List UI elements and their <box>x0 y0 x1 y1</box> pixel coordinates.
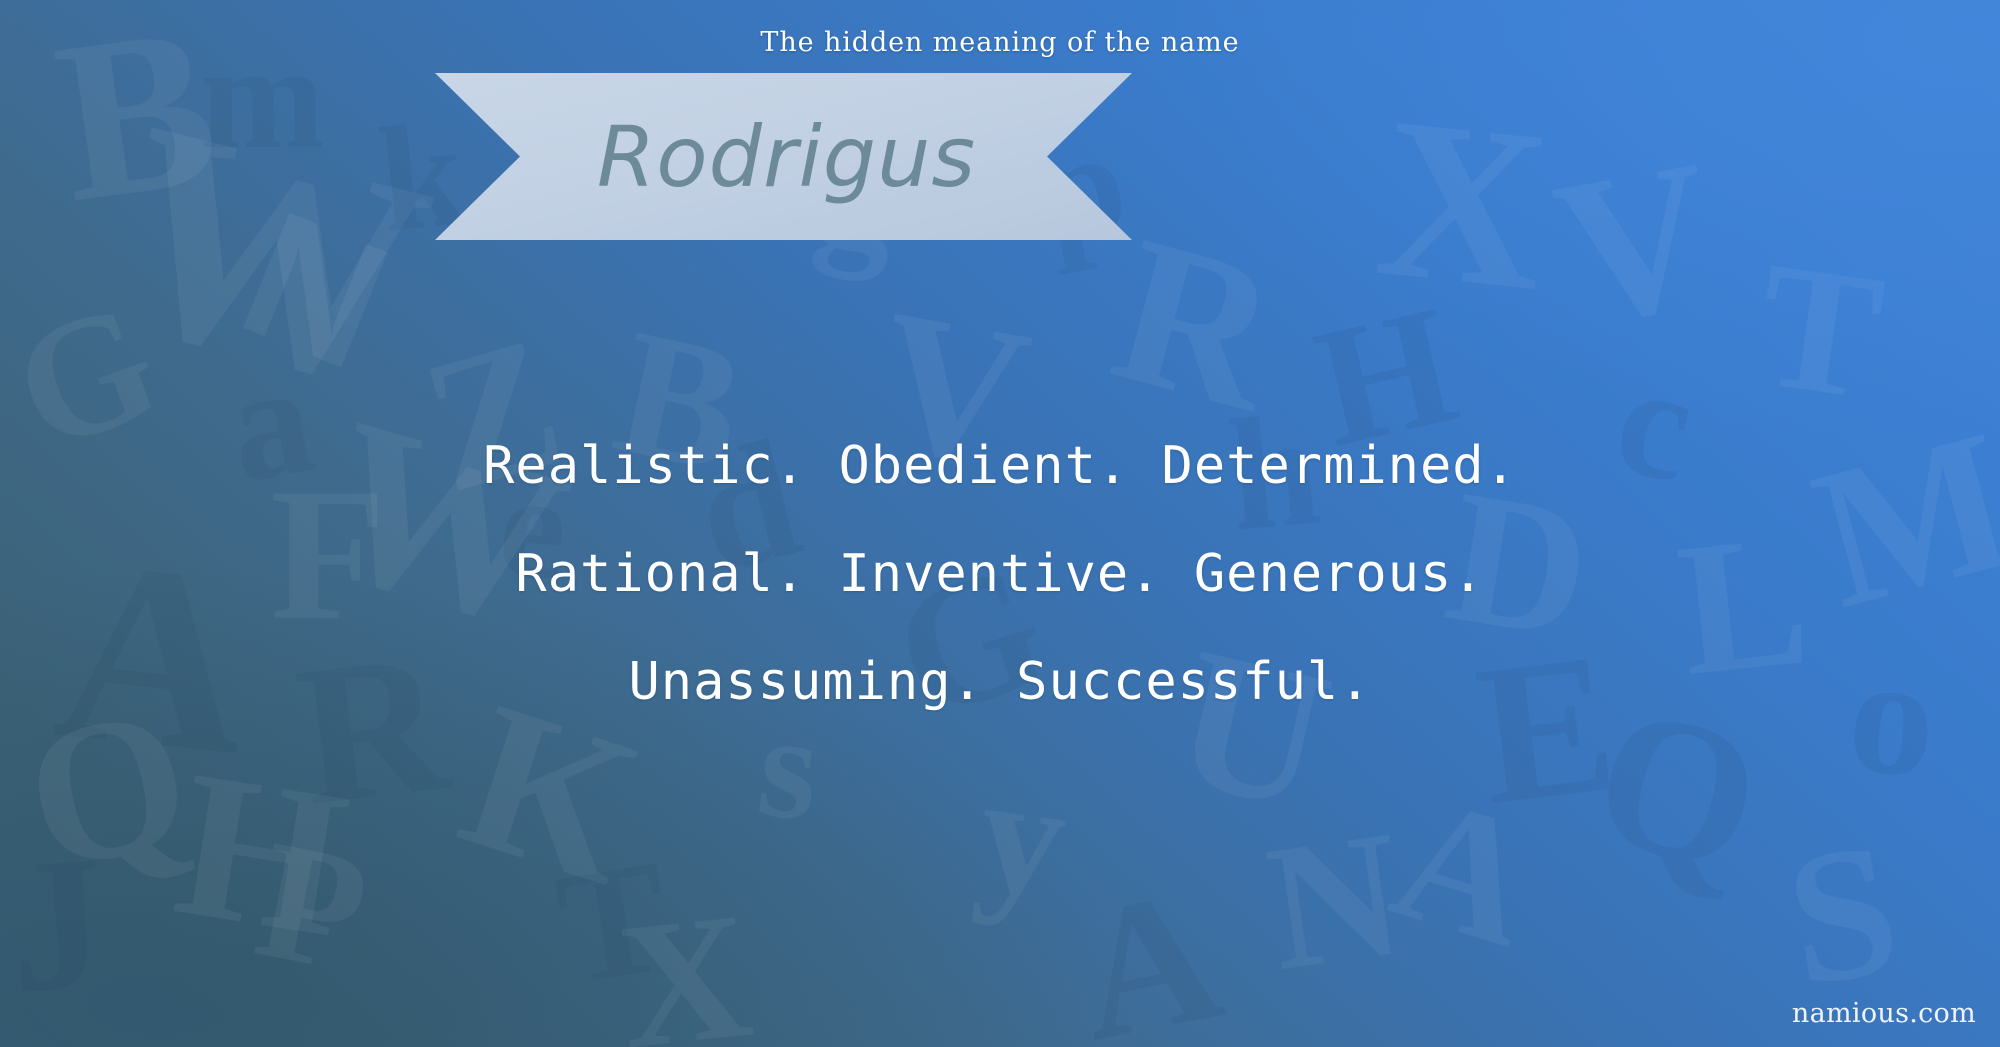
name-title: Rodrigus <box>435 73 1132 240</box>
card-caption: The hidden meaning of the name <box>0 27 2000 58</box>
trait-line-3: Unassuming. Successful. <box>0 656 2000 708</box>
trait-line-2: Rational. Inventive. Generous. <box>0 548 2000 600</box>
name-meaning-card: BWmGAQHJNaWRPZeKTBdsXVGyARhUNXHDEAVcLQTM… <box>0 0 2000 1047</box>
traits-block: Realistic. Obedient. Determined. Rationa… <box>0 440 2000 708</box>
trait-line-1: Realistic. Obedient. Determined. <box>0 440 2000 492</box>
site-watermark: namious.com <box>1792 998 1976 1029</box>
